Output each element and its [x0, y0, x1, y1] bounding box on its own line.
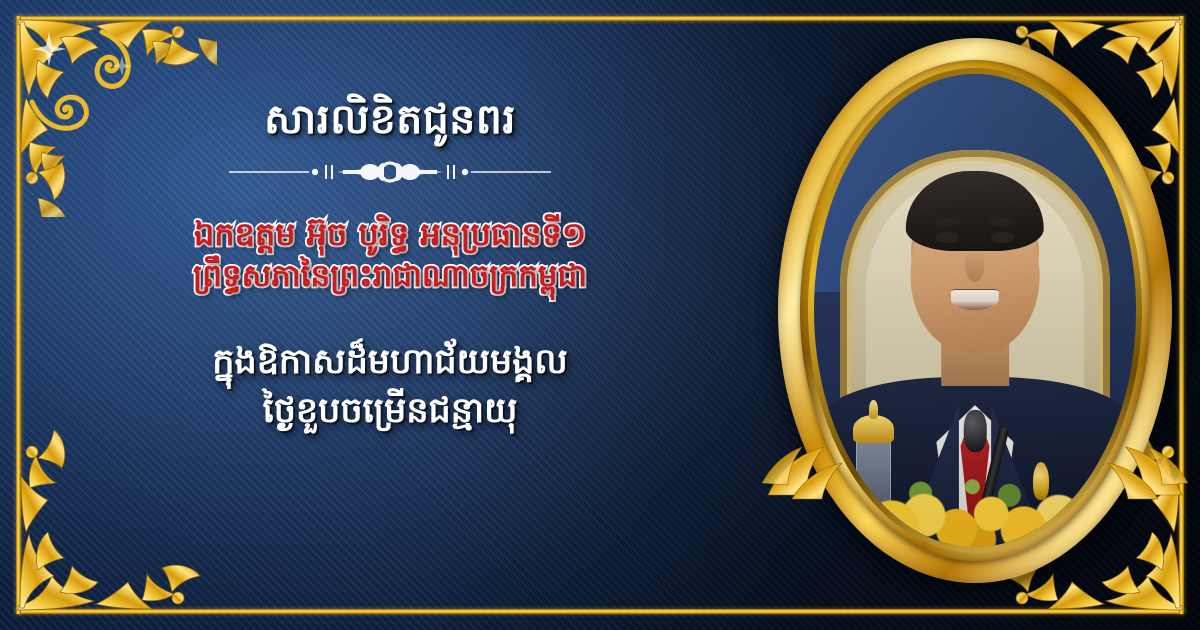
- portrait-frame: [778, 38, 1172, 583]
- gold-border-left: [16, 16, 21, 614]
- honoree-name-line2: ព្រឹទ្ធសភានៃព្រះរាជាណាចក្រកម្ពុជា: [193, 256, 587, 298]
- ornamental-divider-icon: [225, 159, 555, 185]
- occasion-block: ក្នុងឱកាសដ៏មហាជ័យមង្គល ថ្ងៃខួបចម្រើនជន្ម…: [212, 338, 567, 437]
- gold-border-bottom: [16, 609, 1184, 614]
- greeting-card: សារលិខិតជូនពរ: [0, 0, 1200, 630]
- card-title: សារលិខិតជូនពរ: [264, 94, 516, 145]
- gold-border-top: [16, 16, 1184, 21]
- frame-leaf-ornament-icon: [762, 425, 882, 505]
- frame-leaf-ornament-icon: [1068, 425, 1188, 505]
- honoree-name-block: ឯកឧត្តម អ៊ុច បូរិទ្ធ អនុប្រធានទី១ ព្រឹទ្…: [193, 213, 587, 297]
- honoree-name-line1: ឯកឧត្តម អ៊ុច បូរិទ្ធ អនុប្រធានទី១: [193, 213, 587, 256]
- message-column: សារលិខិតជូនពរ: [40, 60, 740, 560]
- occasion-line1: ក្នុងឱកាសដ៏មហាជ័យមង្គល: [212, 338, 567, 388]
- occasion-line2: ថ្ងៃខួបចម្រើនជន្មាយុ: [212, 387, 567, 437]
